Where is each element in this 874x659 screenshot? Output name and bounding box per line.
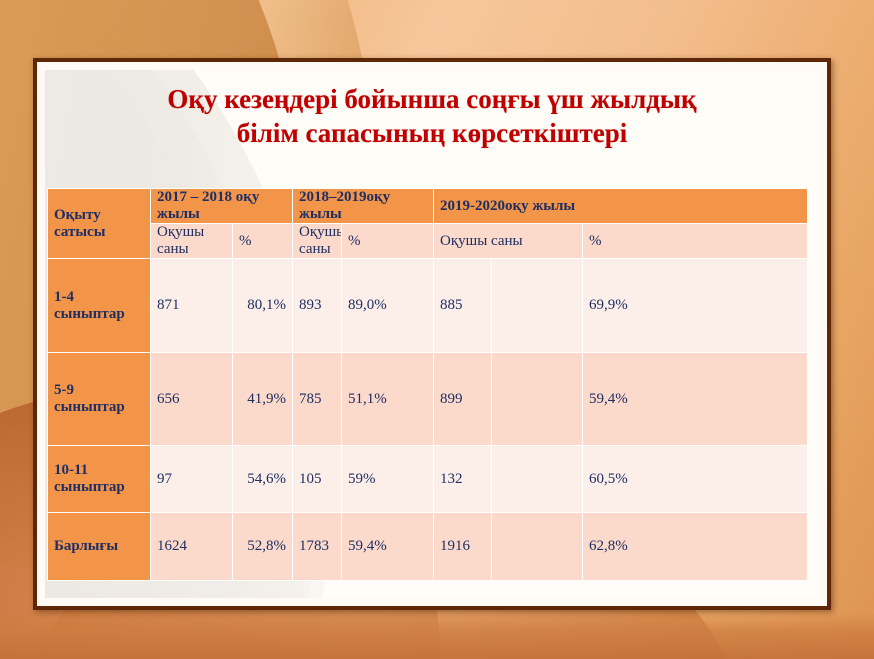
indicators-table: Оқыту сатысы 2017 – 2018 оқу жылы 2018–2… <box>47 188 808 581</box>
row-label-grades-10-11: 10-11 сыныптар <box>48 446 151 513</box>
cell-percent-2017-grades-10-11: 54,6% <box>233 446 293 513</box>
row-label-grades-1-4: 1-4 сыныптар <box>48 259 151 353</box>
table-row: 5-9 сыныптар 656 41,9% 785 51,1% 899 59,… <box>48 353 808 446</box>
row-label-total: Барлығы <box>48 513 151 581</box>
cell-percent-2019-grades-5-9: 59,4% <box>583 353 808 446</box>
cell-percent-2017-total: 52,8% <box>233 513 293 581</box>
cell-spacer-a-grades-1-4 <box>492 259 583 353</box>
cell-percent-2018-grades-1-4: 89,0% <box>342 259 434 353</box>
cell-count-2018-total: 1783 <box>293 513 342 581</box>
table-header-row-metrics: Оқушы саны % Оқушы саны % Оқушы саны % <box>48 224 808 259</box>
cell-percent-2018-grades-10-11: 59% <box>342 446 434 513</box>
cell-spacer-a-grades-10-11 <box>492 446 583 513</box>
column-header-year-2017: 2017 – 2018 оқу жылы <box>151 189 293 224</box>
column-header-percent-2019: % <box>583 224 808 259</box>
cell-percent-2019-grades-1-4: 69,9% <box>583 259 808 353</box>
page-title-line-1: Оқу кезеңдері бойынша соңғы үш жылдық <box>167 84 696 114</box>
cell-percent-2018-total: 59,4% <box>342 513 434 581</box>
cell-count-2018-grades-5-9: 785 <box>293 353 342 446</box>
cell-count-2017-grades-5-9: 656 <box>151 353 233 446</box>
column-header-stage: Оқыту сатысы <box>48 189 151 259</box>
cell-percent-2019-grades-10-11: 60,5% <box>583 446 808 513</box>
column-header-percent-2018: % <box>342 224 434 259</box>
table-row: 10-11 сыныптар 97 54,6% 105 59% 132 60,5… <box>48 446 808 513</box>
cell-count-2019-total: 1916 <box>434 513 492 581</box>
table-row: Барлығы 1624 52,8% 1783 59,4% 1916 62,8% <box>48 513 808 581</box>
page-title: Оқу кезеңдері бойынша соңғы үш жылдық бі… <box>33 82 831 150</box>
cell-count-2019-grades-1-4: 885 <box>434 259 492 353</box>
cell-percent-2018-grades-5-9: 51,1% <box>342 353 434 446</box>
slide: Оқу кезеңдері бойынша соңғы үш жылдық бі… <box>0 0 874 659</box>
table-row: 1-4 сыныптар 871 80,1% 893 89,0% 885 69,… <box>48 259 808 353</box>
column-header-count-2019: Оқушы саны <box>434 224 583 259</box>
cell-spacer-a-total <box>492 513 583 581</box>
cell-count-2017-total: 1624 <box>151 513 233 581</box>
column-header-count-2017: Оқушы саны <box>151 224 233 259</box>
column-header-percent-2017: % <box>233 224 293 259</box>
cell-count-2019-grades-10-11: 132 <box>434 446 492 513</box>
cell-percent-2019-total: 62,8% <box>583 513 808 581</box>
column-header-year-2019: 2019-2020оқу жылы <box>434 189 808 224</box>
cell-spacer-a-grades-5-9 <box>492 353 583 446</box>
cell-count-2018-grades-10-11: 105 <box>293 446 342 513</box>
row-label-grades-5-9: 5-9 сыныптар <box>48 353 151 446</box>
page-title-line-2: білім сапасының көрсеткіштері <box>33 116 831 150</box>
cell-count-2017-grades-1-4: 871 <box>151 259 233 353</box>
cell-percent-2017-grades-5-9: 41,9% <box>233 353 293 446</box>
cell-count-2018-grades-1-4: 893 <box>293 259 342 353</box>
table-header-row-years: Оқыту сатысы 2017 – 2018 оқу жылы 2018–2… <box>48 189 808 224</box>
column-header-year-2018: 2018–2019оқу жылы <box>293 189 434 224</box>
cell-count-2017-grades-10-11: 97 <box>151 446 233 513</box>
cell-count-2019-grades-5-9: 899 <box>434 353 492 446</box>
column-header-count-2018: Оқушы саны <box>293 224 342 259</box>
background-bottom-strip <box>0 613 874 659</box>
cell-percent-2017-grades-1-4: 80,1% <box>233 259 293 353</box>
